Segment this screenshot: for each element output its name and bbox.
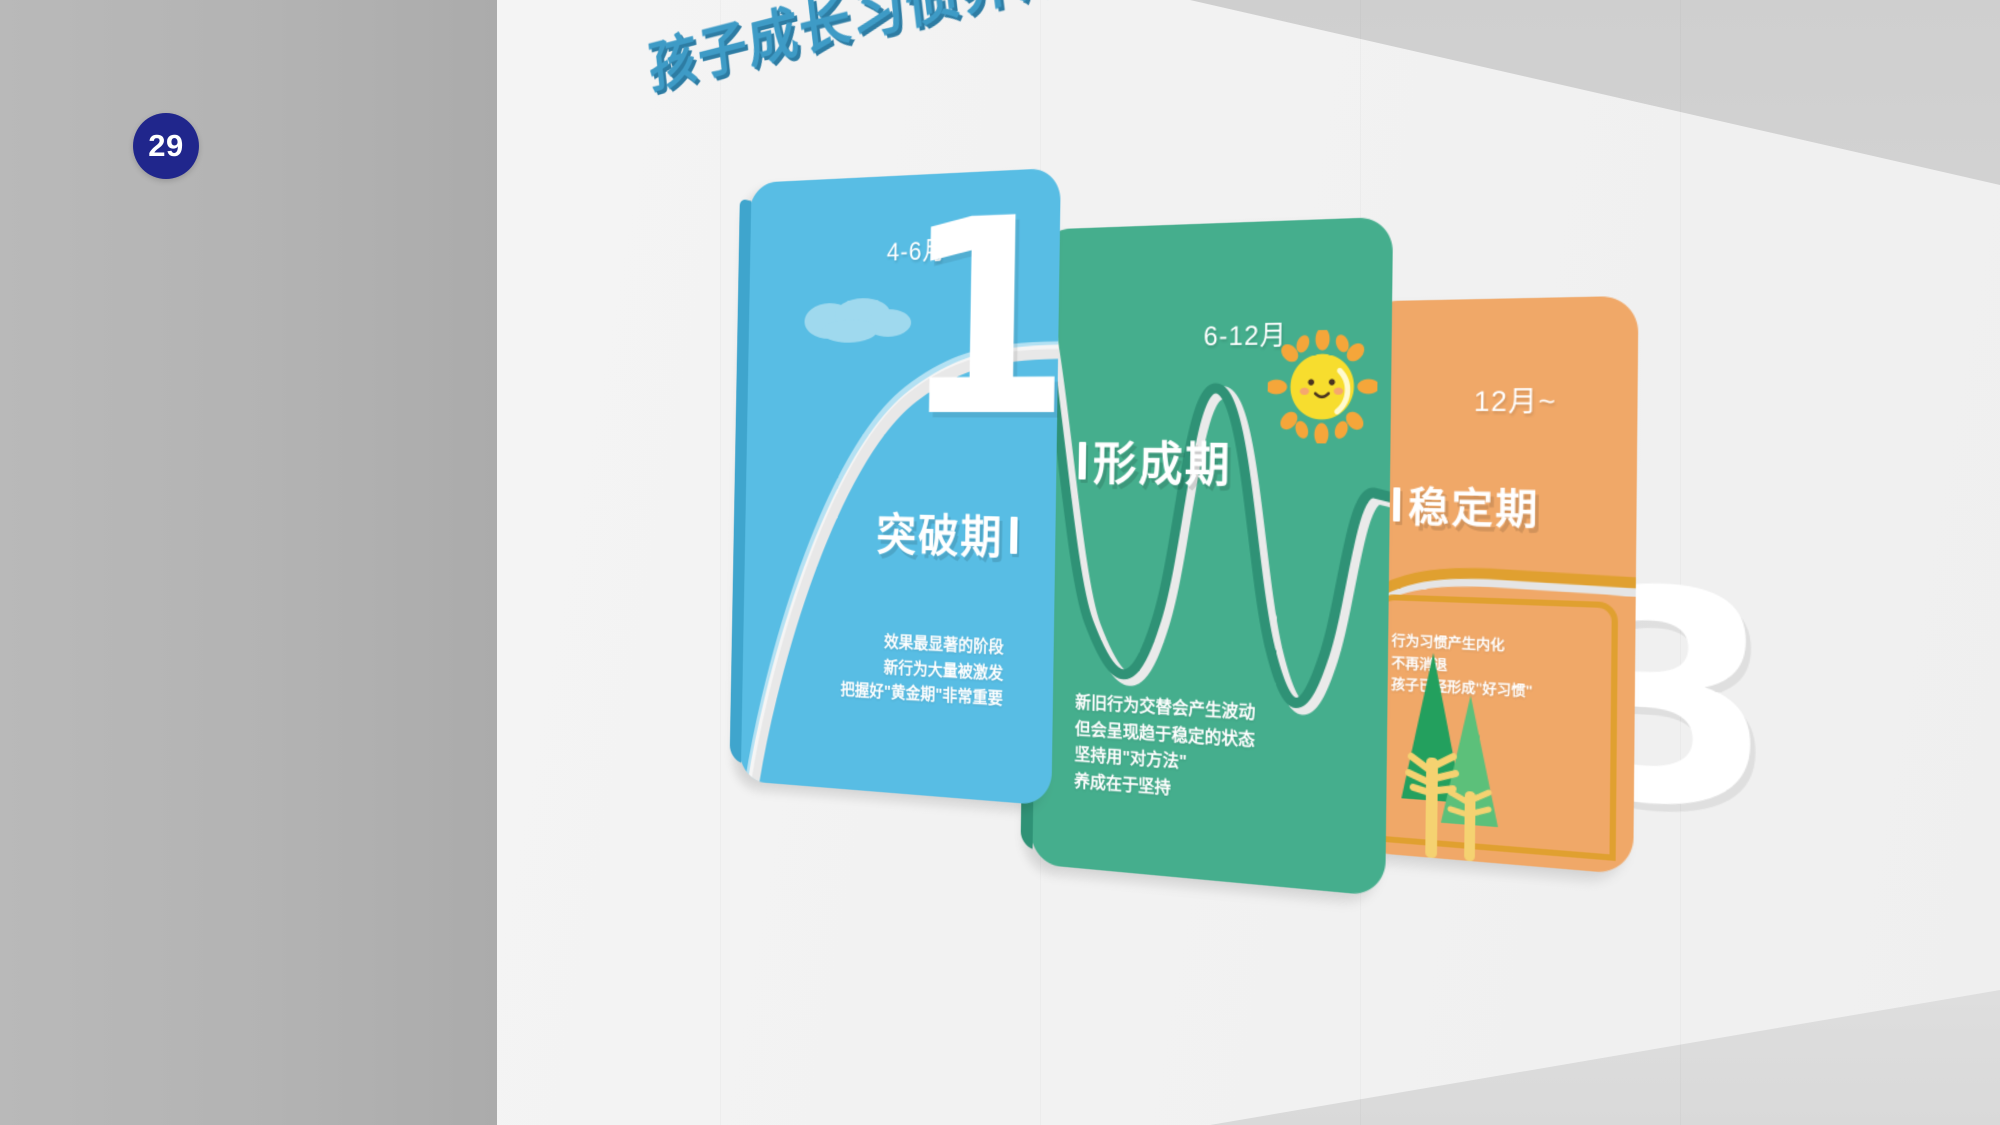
slide-number-badge: 29 [133, 113, 199, 179]
cloud-icon [796, 294, 917, 345]
smiling-sun-icon [1267, 329, 1378, 444]
stage-1-title-text: 突破期 [876, 499, 1004, 568]
stage-3-title: 稳定期 [1393, 474, 1540, 537]
wall-seam [720, 0, 721, 1125]
title-accent-bar [1393, 487, 1400, 521]
pine-trees-icon [1385, 641, 1529, 865]
stage-panel-2-inner: 6-12月 形成期 新旧行为交替会产生波动但会呈现趋于稳定的状态坚持用"对方法"… [1030, 217, 1393, 897]
stage-panel-1[interactable]: 4-6月 突破期 效果最显著的阶段新行为大量被激发把握好"黄金期"非常重要 1 [739, 168, 1061, 806]
stage-1-title: 突破期 [876, 499, 1018, 568]
ghost-number-1: 1 [900, 180, 1074, 455]
stage-1-body: 效果最显著的阶段新行为大量被激发把握好"黄金期"非常重要 [741, 623, 1024, 714]
stage-2-title-text: 形成期 [1093, 426, 1233, 496]
wall-graphic: 孩子成长习惯养成周期 CHILD GROWTH HABIT FORMATION … [739, 57, 1749, 859]
wall-graphic-perspective-wrapper: 孩子成长习惯养成周期 CHILD GROWTH HABIT FORMATION … [745, 128, 1675, 768]
stage-3-month-label: 12月~ [1474, 377, 1557, 419]
stage-2-title: 形成期 [1078, 426, 1232, 496]
slide-number-text: 29 [148, 128, 183, 164]
stage-2-body: 新旧行为交替会产生波动但会呈现趋于稳定的状态坚持用"对方法"养成在于坚持 [1074, 690, 1355, 816]
stage-panel-2[interactable]: 6-12月 形成期 新旧行为交替会产生波动但会呈现趋于稳定的状态坚持用"对方法"… [1030, 217, 1393, 897]
stage-panel-3[interactable]: 12月~ 稳定期 行为习惯产生内化不再消退孩子已经形成"好习惯" [1357, 296, 1638, 875]
left-gray-wall [0, 0, 497, 1125]
stage-panel-3-inner: 12月~ 稳定期 行为习惯产生内化不再消退孩子已经形成"好习惯" [1357, 296, 1638, 875]
slide-canvas: 29 孩子成长习惯养成周期 CHILD GROWTH HABIT FORMATI… [0, 0, 2000, 1125]
title-accent-bar [1079, 441, 1087, 479]
stage-3-title-text: 稳定期 [1408, 475, 1540, 538]
